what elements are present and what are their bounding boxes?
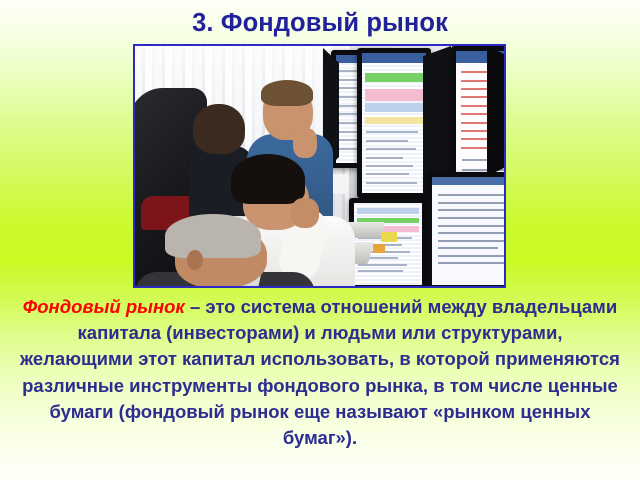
- definition-paragraph: Фондовый рынок – это система отношений м…: [20, 294, 620, 451]
- person-decoration: [135, 214, 315, 286]
- monitor-bezel-decoration: [487, 46, 504, 176]
- photo-content: [135, 46, 504, 286]
- monitor-decoration: [357, 48, 431, 198]
- sticky-note-decoration: [381, 232, 397, 242]
- monitor-screen-decoration: [362, 53, 426, 193]
- sticky-note-decoration: [373, 244, 385, 253]
- monitor-decoration: [427, 172, 504, 286]
- stock-market-photo: [133, 44, 506, 288]
- page-title: 3. Фондовый рынок: [0, 8, 640, 38]
- monitor-screen-decoration: [432, 177, 504, 285]
- spreadsheet-rows-decoration: [362, 53, 426, 193]
- spreadsheet-rows-decoration: [432, 177, 504, 285]
- definition-body: – это система отношений между владельцам…: [20, 296, 620, 448]
- definition-term: Фондовый рынок: [23, 296, 185, 317]
